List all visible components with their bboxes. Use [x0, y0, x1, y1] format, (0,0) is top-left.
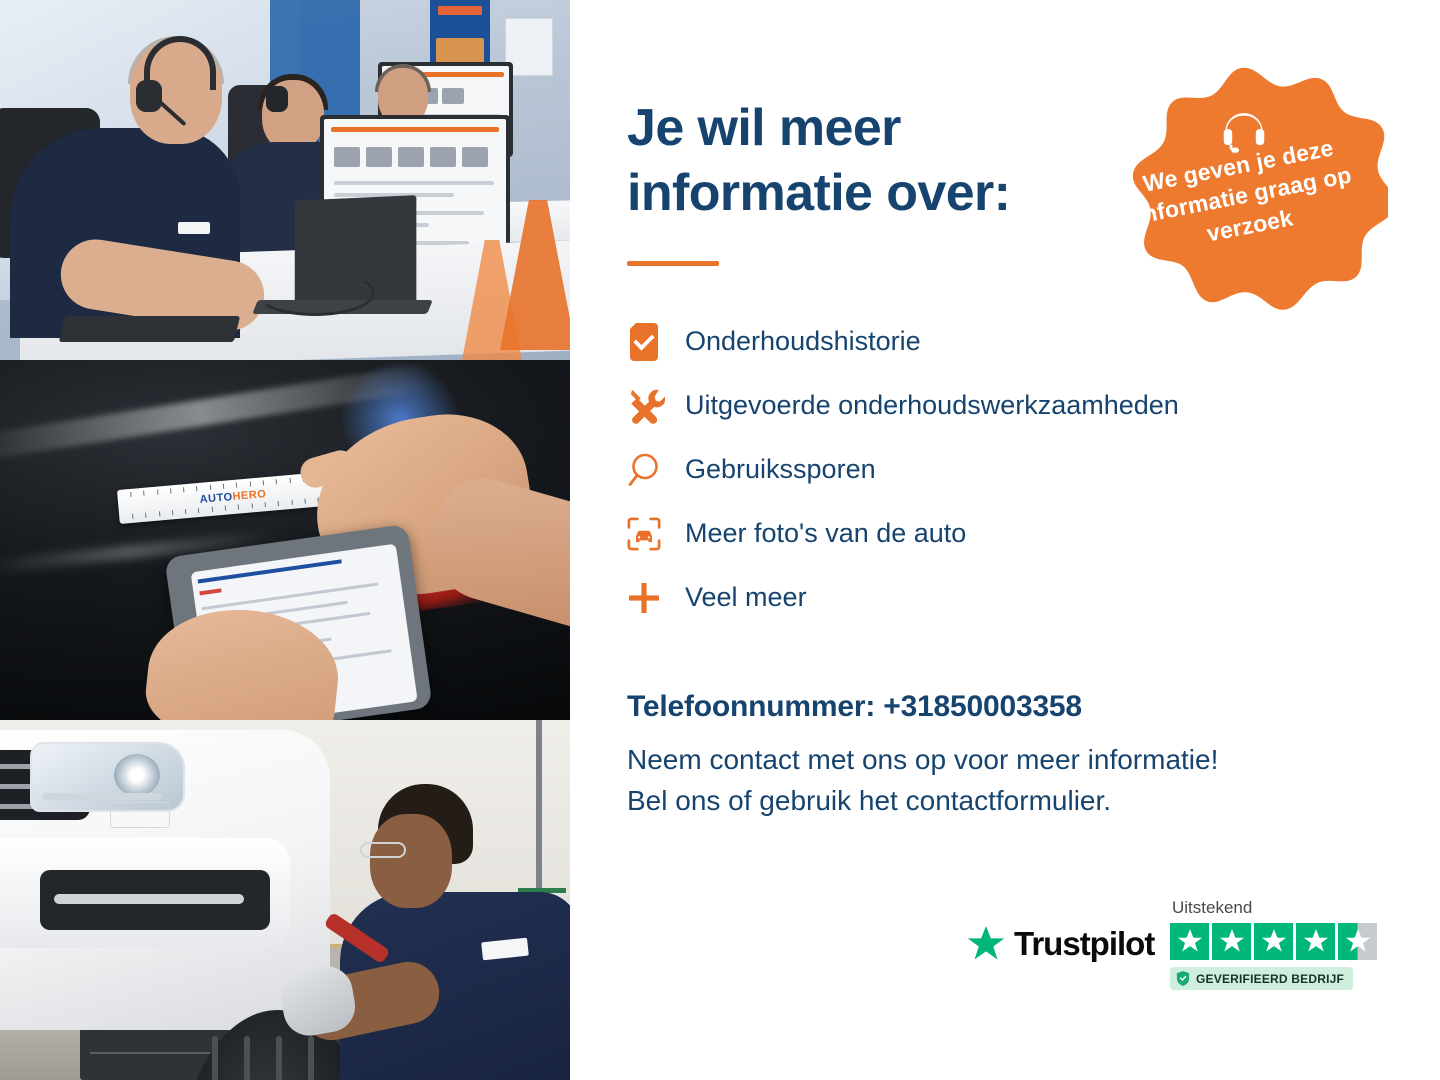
star-tile — [1212, 923, 1251, 960]
contact-block: Telefoonnummer: +31850003358 Neem contac… — [627, 690, 1407, 821]
car-photo-frame-icon — [627, 517, 685, 551]
trustpilot-logo: Trustpilot — [965, 924, 1154, 964]
agent-1-headset-cup — [136, 80, 162, 112]
document-check-icon — [627, 323, 685, 361]
list-item-label: Gebruikssporen — [685, 455, 876, 485]
list-item: Gebruikssporen — [627, 438, 1387, 502]
autohero-logo-auto: AUTO — [199, 491, 233, 506]
agent-2-headset — [266, 86, 288, 112]
list-item: Onderhoudshistorie — [627, 310, 1387, 374]
list-item-label: Veel meer — [685, 583, 807, 613]
technician — [330, 780, 570, 1080]
desk-tablet — [59, 316, 240, 342]
call-center-agents-photo — [0, 0, 570, 360]
star-rating — [1170, 923, 1385, 960]
technician-head — [370, 814, 452, 908]
verified-label: GEVERIFIEERD BEDRIJF — [1196, 972, 1344, 986]
desk-cable — [255, 270, 375, 316]
photo-column: AUTOHERO — [0, 0, 570, 1080]
request-info-badge: We geven je deze informatie graag op ver… — [1100, 62, 1388, 340]
title-underline-rule — [627, 261, 719, 266]
feature-list: Onderhoudshistorie Uitgevoerde onderhoud… — [627, 310, 1387, 630]
contact-line-1: Neem contact met ons op voor meer inform… — [627, 744, 1218, 775]
star-tile-half — [1338, 923, 1377, 960]
star-tile — [1254, 923, 1293, 960]
car-inspection-ruler-photo: AUTOHERO — [0, 360, 570, 720]
headlight-lens — [114, 754, 160, 796]
rating-word: Uitstekend — [1170, 898, 1385, 918]
technician-tire-check-photo — [0, 720, 570, 1080]
verified-business-badge: GEVERIFIEERD BEDRIJF — [1170, 967, 1353, 990]
list-item-label: Uitgevoerde onderhoudswerkzaamheden — [685, 391, 1179, 421]
trustpilot-wordmark: Trustpilot — [1014, 925, 1154, 963]
list-item-label: Onderhoudshistorie — [685, 327, 921, 357]
page-title-line-1: Je wil meer — [627, 99, 901, 157]
star-tile — [1170, 923, 1209, 960]
star-tile — [1296, 923, 1335, 960]
content-panel: Je wil meer informatie over: We geven je… — [570, 0, 1440, 1080]
list-item: Meer foto's van de auto — [627, 502, 1387, 566]
phone-number[interactable]: Telefoonnummer: +31850003358 — [627, 690, 1407, 724]
page-title-line-2: informatie over: — [627, 164, 1010, 222]
technician-glasses — [360, 842, 406, 858]
marketing-banner: AUTOHERO — [0, 0, 1440, 1080]
list-item: Uitgevoerde onderhoudswerkzaamheden — [627, 374, 1387, 438]
list-item: Veel meer — [627, 566, 1387, 630]
trustpilot-star-icon — [965, 924, 1007, 964]
shield-check-icon — [1176, 971, 1190, 986]
autohero-logo-hero: HERO — [232, 488, 267, 503]
list-item-label: Meer foto's van de auto — [685, 519, 966, 549]
contact-instructions: Neem contact met ons op voor meer inform… — [627, 740, 1407, 821]
lower-air-intake — [40, 870, 270, 930]
plus-icon — [627, 581, 685, 615]
contact-line-2: Bel ons of gebruik het contactformulier. — [627, 785, 1111, 816]
agent-1-polo-logo — [178, 222, 210, 234]
tools-wrench-screwdriver-icon — [627, 387, 685, 425]
trustpilot-widget[interactable]: Trustpilot Uitstekend GEVERIFIEERD BED — [965, 898, 1385, 1008]
trustpilot-rating: Uitstekend GEVERIFIEERD BEDRIJF — [1170, 898, 1385, 991]
headlight-drl — [42, 793, 162, 800]
license-plate-area — [110, 802, 170, 828]
magnifier-icon — [627, 452, 685, 488]
